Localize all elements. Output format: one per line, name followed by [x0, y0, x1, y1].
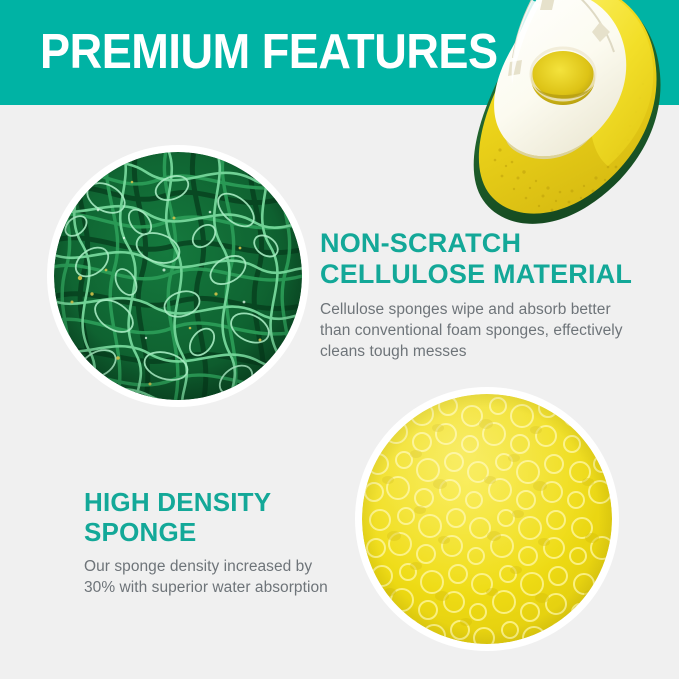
product-infographic: PREMIUM FEATURES: [0, 0, 679, 679]
sponge-with-handle-photo: [440, 0, 679, 240]
feature-cellulose-body: Cellulose sponges wipe and absorb better…: [320, 299, 640, 362]
feature-density-heading: HIGH DENSITY SPONGE: [84, 487, 339, 547]
green-scouring-fiber-closeup: [47, 145, 309, 407]
feature-density-heading-line2: SPONGE: [84, 517, 196, 547]
yellow-sponge-image: [362, 394, 612, 644]
yellow-cellulose-sponge-closeup: [355, 387, 619, 651]
green-fiber-image: [54, 152, 302, 400]
feature-cellulose-text: NON-SCRATCH CELLULOSE MATERIAL Cellulose…: [320, 228, 640, 362]
feature-density-heading-line1: HIGH DENSITY: [84, 487, 271, 517]
feature-density-text: HIGH DENSITY SPONGE Our sponge density i…: [84, 487, 339, 598]
feature-cellulose-heading-line2: CELLULOSE MATERIAL: [320, 259, 632, 289]
feature-density-body: Our sponge density increased by 30% with…: [84, 556, 339, 598]
page-title: PREMIUM FEATURES: [40, 26, 498, 78]
